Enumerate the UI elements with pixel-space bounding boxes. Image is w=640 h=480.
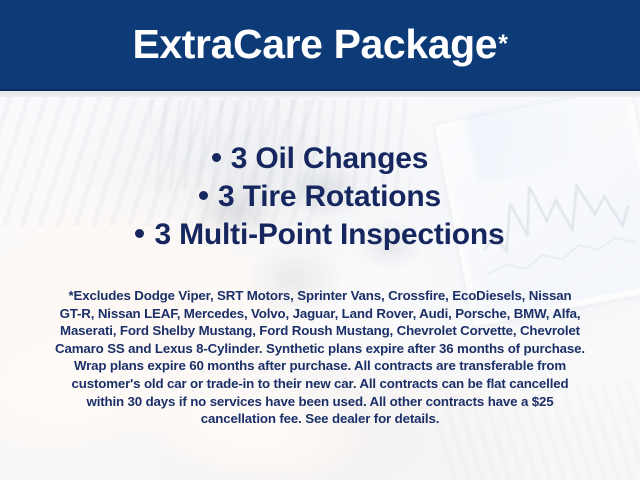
list-item-label: 3 Multi-Point Inspections bbox=[154, 218, 504, 251]
disclaimer-line: Camaro SS and Lexus 8-Cylinder. Syntheti… bbox=[24, 340, 616, 358]
bullet-dot-icon bbox=[212, 153, 221, 162]
header-strip bbox=[0, 91, 640, 97]
disclaimer-line: Maserati, Ford Shelby Mustang, Ford Rous… bbox=[24, 322, 616, 340]
disclaimer-line: GT-R, Nissan LEAF, Mercedes, Volvo, Jagu… bbox=[24, 305, 616, 323]
bullet-dot-icon bbox=[199, 191, 208, 200]
page-title-text: ExtraCare Package bbox=[132, 21, 497, 68]
benefits-list: 3 Oil Changes 3 Tire Rotations 3 Multi-P… bbox=[0, 140, 640, 254]
disclaimer-line: within 30 days if no services have been … bbox=[24, 393, 616, 411]
list-item-label: 3 Oil Changes bbox=[231, 142, 428, 175]
bullet-dot-icon bbox=[135, 229, 144, 238]
disclaimer-line: *Excludes Dodge Viper, SRT Motors, Sprin… bbox=[24, 287, 616, 305]
extracare-package-ad: ExtraCare Package* 3 Oil Changes 3 Tire … bbox=[0, 0, 640, 480]
list-item: 3 Tire Rotations bbox=[0, 178, 640, 216]
disclaimer-line: Wrap plans expire 60 months after purcha… bbox=[24, 357, 616, 375]
page-title: ExtraCare Package* bbox=[0, 0, 640, 89]
list-item: 3 Oil Changes bbox=[0, 140, 640, 178]
disclaimer-line: customer's old car or trade-in to their … bbox=[24, 375, 616, 393]
list-item: 3 Multi-Point Inspections bbox=[0, 216, 640, 254]
list-item-label: 3 Tire Rotations bbox=[218, 180, 441, 213]
disclaimer-text: *Excludes Dodge Viper, SRT Motors, Sprin… bbox=[24, 287, 616, 428]
disclaimer-line: cancellation fee. See dealer for details… bbox=[24, 410, 616, 428]
page-title-asterisk: * bbox=[498, 32, 507, 57]
